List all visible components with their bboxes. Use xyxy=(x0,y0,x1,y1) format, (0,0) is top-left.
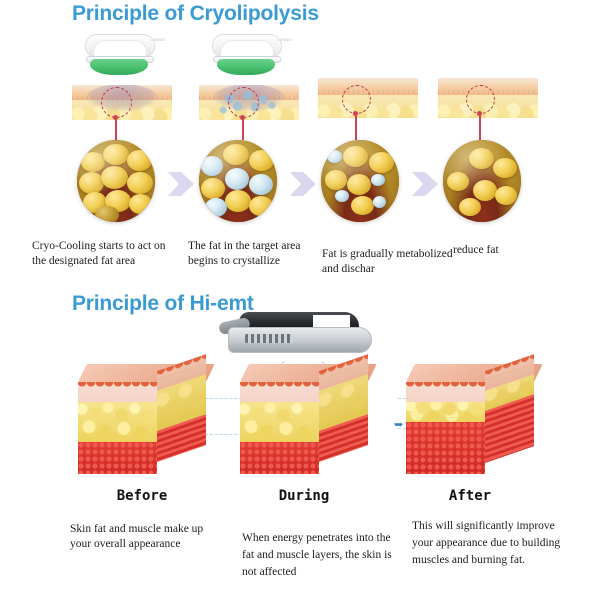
crystallized-fat-cell xyxy=(373,196,386,208)
pointer-line-2 xyxy=(242,118,244,140)
crystallized-fat-cell xyxy=(371,174,385,186)
pointer-line-4 xyxy=(479,114,481,140)
fat-cell xyxy=(473,180,497,201)
stage-arrow-3 xyxy=(412,167,438,201)
infographic-canvas: Principle of Cryolipolysis xyxy=(0,0,600,600)
target-circle-3 xyxy=(342,85,371,114)
fat-cell xyxy=(81,152,105,172)
fat-layer-front xyxy=(240,402,319,442)
fat-layer-front xyxy=(406,402,485,422)
cryo-caption-1: Cryo-Cooling starts to act on the design… xyxy=(32,239,182,269)
fat-cell xyxy=(127,150,152,171)
cryo-applicator-2 xyxy=(212,34,280,74)
fat-layer-front xyxy=(78,402,157,442)
fat-cell xyxy=(325,170,347,190)
applicator-suction-cup xyxy=(90,59,147,75)
crystallized-fat-cell xyxy=(249,174,273,195)
fat-cell xyxy=(459,198,481,216)
fat-cell xyxy=(447,172,469,191)
hiemt-caption-before: Skin fat and muscle make up your overall… xyxy=(70,522,220,552)
section-title-hiemt: Principle of Hi-emt xyxy=(72,292,254,316)
fat-cell xyxy=(129,194,152,214)
tissue-block-after xyxy=(406,364,534,476)
epidermis-front xyxy=(406,382,485,402)
fat-cell xyxy=(495,186,517,205)
fat-cell xyxy=(469,148,494,169)
fat-cell-view-4 xyxy=(443,140,521,222)
section-title-cryolipolysis: Principle of Cryolipolysis xyxy=(72,2,319,26)
epidermis-front xyxy=(78,382,157,402)
fat-cell xyxy=(127,172,153,194)
muscle-layer-front xyxy=(406,422,485,474)
crystallized-fat-cell xyxy=(335,190,349,202)
pointer-line-1 xyxy=(115,118,117,140)
fat-cell xyxy=(347,174,371,195)
cryo-applicator-1 xyxy=(85,34,153,74)
pointer-line-3 xyxy=(355,114,357,140)
fat-cell xyxy=(101,166,128,189)
fat-cell-view-3 xyxy=(321,140,399,222)
tissue-block-during xyxy=(240,364,368,476)
fat-cell xyxy=(223,144,249,165)
fat-cell xyxy=(351,196,374,215)
tissue-block-before xyxy=(78,364,206,476)
fat-cell xyxy=(225,190,251,212)
applicator-suction-cup xyxy=(217,59,274,75)
cryo-caption-3: Fat is gradually metabolized and dischar xyxy=(322,247,460,277)
stage-label-during: During xyxy=(240,488,368,504)
dermis-wave-texture xyxy=(406,382,485,391)
fat-cell xyxy=(369,152,394,173)
hiemt-caption-after: This will significantly improve your app… xyxy=(412,518,572,569)
stage-arrow-2 xyxy=(290,167,316,201)
fat-cell xyxy=(343,146,368,167)
dermis-wave-texture xyxy=(240,382,319,391)
muscle-layer-front xyxy=(240,442,319,473)
crystallized-fat-cell xyxy=(327,150,342,163)
target-circle-1 xyxy=(101,87,132,118)
applicator-cord xyxy=(277,38,292,41)
crystallized-fat-cell xyxy=(201,156,223,176)
target-circle-4 xyxy=(466,85,495,114)
target-circle-2 xyxy=(228,87,259,118)
fat-cell-view-1 xyxy=(77,140,155,222)
applicator-cord xyxy=(150,38,165,41)
fat-cell-view-2 xyxy=(199,140,277,222)
fat-cell xyxy=(201,178,225,199)
stage-label-before: Before xyxy=(78,488,206,504)
cryo-caption-4: reduce fat xyxy=(453,243,573,258)
muscle-layer-front xyxy=(78,442,157,473)
stage-label-after: After xyxy=(406,488,534,504)
fat-cell xyxy=(249,196,273,216)
hiemt-applicator xyxy=(228,312,370,360)
dermis-wave-texture xyxy=(78,382,157,391)
hiemt-caption-during: When energy penetrates into the fat and … xyxy=(242,530,394,581)
cryo-caption-2: The fat in the target area begins to cry… xyxy=(188,239,330,269)
connector-arrow-icon: ➥ xyxy=(394,420,403,431)
fat-cell xyxy=(95,206,119,222)
crystallized-fat-cell xyxy=(225,168,249,190)
fat-cell xyxy=(249,150,274,171)
fat-cell xyxy=(493,158,517,178)
stage-arrow-1 xyxy=(168,167,194,201)
epidermis-front xyxy=(240,382,319,402)
crystallized-fat-cell xyxy=(205,198,227,217)
fat-cell xyxy=(103,144,129,165)
applicator-vent-grille xyxy=(245,334,293,343)
